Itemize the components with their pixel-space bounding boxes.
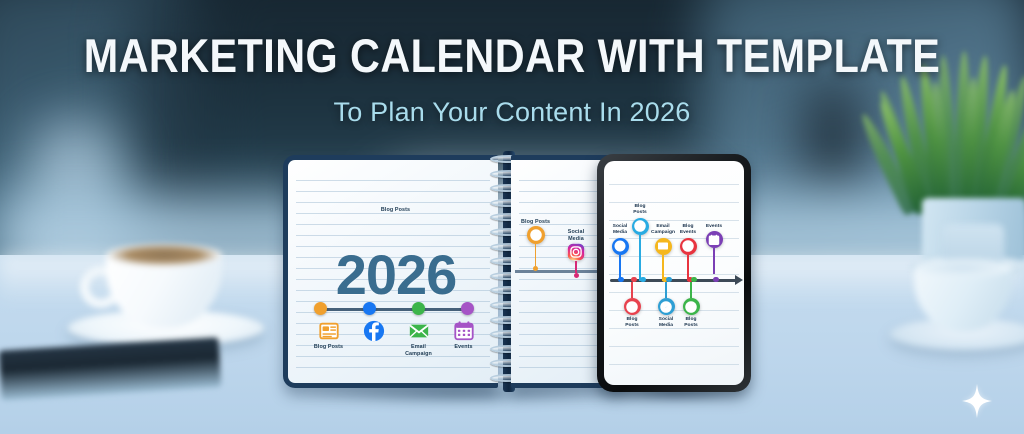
envelope-icon <box>408 320 430 342</box>
newspaper-icon <box>318 320 340 342</box>
cup-rim-left <box>106 244 222 266</box>
node-dot <box>533 266 538 271</box>
tablet-node-stem <box>687 255 689 281</box>
node-bubble <box>567 243 585 261</box>
tablet-node-stem <box>662 255 664 281</box>
page-subtitle: To Plan Your Content In 2026 <box>0 97 1024 128</box>
tablet-timeline-node-above: Social Media <box>609 224 631 281</box>
notebook-top-item: Blog Posts <box>288 205 498 214</box>
node-stem <box>575 261 577 273</box>
tablet-node-bubble[interactable] <box>612 238 629 255</box>
banner-stage: MARKETING CALENDAR WITH TEMPLATE To Plan… <box>0 0 1024 434</box>
notebook-timeline <box>314 302 478 316</box>
tablet-node-bubble[interactable] <box>658 298 675 315</box>
timeline-arrow-icon <box>735 275 743 285</box>
tablet-timeline-node-below: Blog Posts <box>621 282 643 330</box>
tablet-node-label: Social Media <box>613 224 628 237</box>
tablet-timeline-node-above: Blog Posts <box>629 204 651 281</box>
notebook-timeline-axis <box>320 308 472 311</box>
tablet-node-bubble[interactable] <box>680 238 697 255</box>
notebook-timeline-item: Email Campaign <box>396 320 441 358</box>
notebook-timeline-dot <box>363 302 376 315</box>
tablet-node-stem <box>665 282 667 298</box>
page-title: MARKETING CALENDAR WITH TEMPLATE <box>61 32 962 79</box>
notebook-timeline-item <box>351 320 396 358</box>
notebook-right-node-label: Social Media <box>568 229 584 243</box>
tablet-node-label: Blog Posts <box>629 204 651 217</box>
notebook-right-node-label: Blog Posts <box>521 219 550 226</box>
tablet-timeline-node-above: Events <box>703 224 725 274</box>
tablet-node-label: Social Media <box>659 317 674 330</box>
tablet-node-stem <box>713 248 715 274</box>
node-bubble <box>527 226 545 244</box>
notebook-item-label: Events <box>454 344 472 351</box>
notebook-timeline-item: Events <box>441 320 486 358</box>
notebook-right-node: Social Media <box>567 229 585 278</box>
tablet-node-stem <box>619 255 621 281</box>
tablet-node-bubble[interactable] <box>706 231 723 248</box>
tablet-timeline-node-below: Social Media <box>655 282 677 330</box>
tablet-node-stem <box>690 282 692 298</box>
tablet-node-label: Blog Posts <box>621 317 643 330</box>
notebook-left-page: Blog Posts 2026 Blog PostsEmail Campaign… <box>283 155 498 388</box>
node-dot <box>574 273 579 278</box>
tablet-device: Social MediaBlog PostsEmail CampaignBlog… <box>597 154 751 392</box>
spiral-notebook: Blog Posts 2026 Blog PostsEmail Campaign… <box>283 155 628 388</box>
tablet-node-stem <box>631 282 633 298</box>
tablet-node-label: Blog Posts <box>680 317 702 330</box>
notebook-year: 2026 <box>310 242 482 307</box>
notebook-item-label: Blog Posts <box>314 344 343 351</box>
coffee-cup-right <box>890 250 1024 380</box>
tablet-node-label: Events <box>706 224 722 230</box>
tablet-node-label: Email Campaign <box>651 224 675 237</box>
tablet-node-bubble[interactable] <box>624 298 641 315</box>
facebook-icon <box>363 320 385 342</box>
tablet-timeline-node-above: Blog Events <box>677 224 699 281</box>
node-stem <box>535 244 537 266</box>
tablet-node-label: Blog Events <box>680 224 696 237</box>
tablet-node-stem <box>639 235 641 281</box>
tablet-timeline-node-above: Email Campaign <box>652 224 674 281</box>
tablet-screen[interactable]: Social MediaBlog PostsEmail CampaignBlog… <box>604 161 744 385</box>
calendar-icon <box>453 320 475 342</box>
notebook-timeline-dot <box>412 302 425 315</box>
tablet-node-bubble[interactable] <box>632 218 649 235</box>
tablet-node-bubble[interactable] <box>655 238 672 255</box>
notebook-right-node: Blog Posts <box>521 219 550 271</box>
tablet-timeline-node-below: Blog Posts <box>680 282 702 330</box>
notebook-timeline-items: Blog PostsEmail CampaignEvents <box>306 320 486 358</box>
timeline-tick <box>713 277 719 283</box>
sparkle-icon <box>962 384 992 418</box>
tablet-node-bubble[interactable] <box>683 298 700 315</box>
notebook-item-label: Email Campaign <box>405 344 432 358</box>
notebook-timeline-dot <box>461 302 474 315</box>
notebook-timeline-item: Blog Posts <box>306 320 351 358</box>
notebook-top-item-label: Blog Posts <box>381 207 410 214</box>
notebook-timeline-dot <box>314 302 327 315</box>
cup-rim-right <box>914 259 1012 277</box>
